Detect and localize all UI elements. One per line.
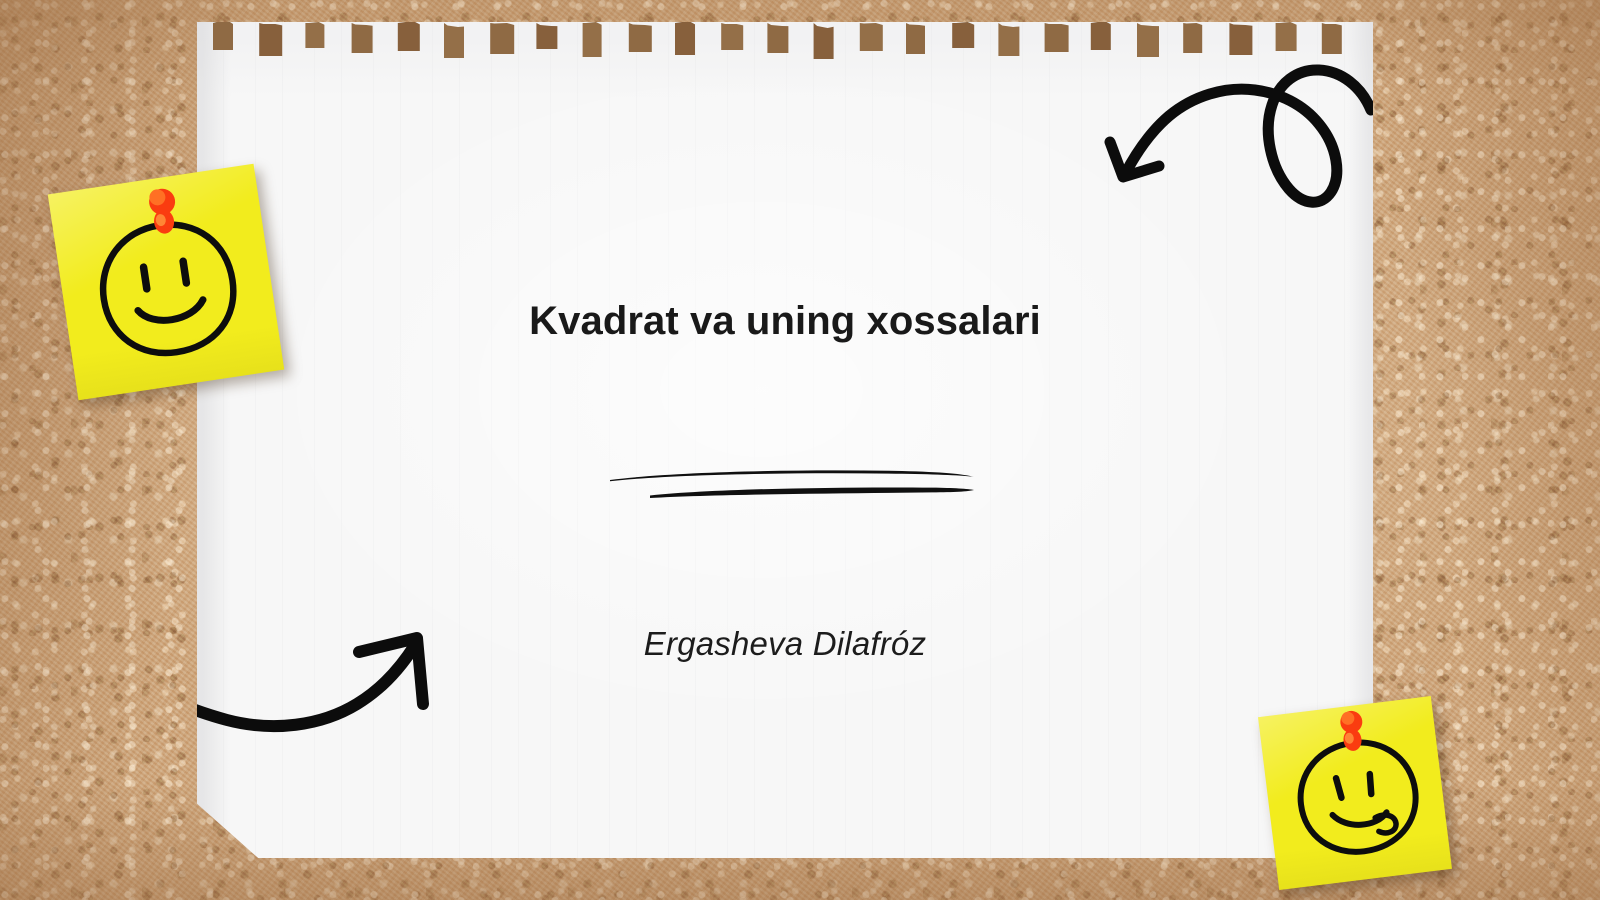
notebook-paper-sheet: Kvadrat va uning xossalari Ergasheva Dil… [197, 22, 1373, 858]
torn-hole [259, 23, 282, 56]
torn-hole [629, 23, 652, 52]
torn-hole [1322, 23, 1342, 54]
torn-hole [1183, 23, 1202, 53]
torn-hole [906, 23, 925, 54]
torn-hole [860, 23, 883, 51]
torn-hole [305, 22, 324, 48]
torn-hole [490, 23, 514, 54]
torn-hole [536, 23, 557, 49]
torn-hole [1045, 23, 1069, 52]
torn-hole [352, 23, 373, 53]
paper-shading [197, 22, 1373, 858]
sticky-note-top-left[interactable] [48, 164, 284, 400]
torn-hole [998, 23, 1019, 56]
torn-hole [583, 22, 602, 57]
red-pushpin-icon [48, 164, 284, 400]
torn-hole [1276, 22, 1297, 51]
torn-hole [398, 22, 420, 51]
torn-hole [675, 22, 695, 55]
torn-hole [952, 22, 974, 48]
torn-hole [767, 23, 788, 53]
torn-hole [1229, 23, 1252, 55]
red-pushpin-icon [1258, 696, 1452, 890]
torn-hole [444, 23, 464, 58]
torn-hole [213, 22, 233, 50]
torn-hole [1091, 22, 1111, 50]
torn-hole [721, 23, 743, 50]
page-subtitle: Ergasheva Dilafróz [197, 625, 1373, 663]
torn-spiral-holes [197, 22, 1373, 82]
torn-hole [814, 23, 834, 59]
torn-hole [1137, 23, 1159, 57]
sticky-note-bottom-right[interactable] [1258, 696, 1452, 890]
page-title: Kvadrat va uning xossalari [197, 299, 1373, 344]
slide-canvas: Kvadrat va uning xossalari Ergasheva Dil… [0, 0, 1600, 900]
